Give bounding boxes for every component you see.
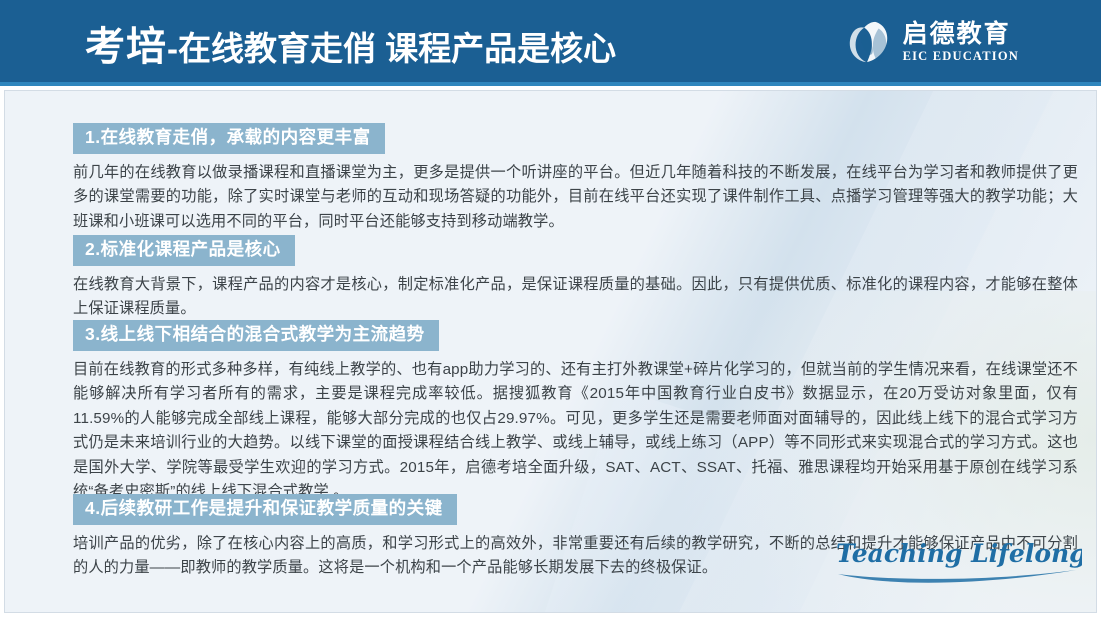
brand-name-en: EIC EDUCATION — [903, 50, 1019, 63]
section-3-body: 目前在线教育的形式多种多样，有纯线上教学的、也有app助力学习的、还有主打外教课… — [73, 358, 1078, 505]
section-2-heading: 2.标准化课程产品是核心 — [73, 235, 295, 266]
slide-canvas: 考培-在线教育走俏 课程产品是核心 启德教育 EIC EDUCATION 1.在… — [0, 0, 1101, 617]
eic-swirl-logo-mark — [845, 18, 893, 66]
page-title: 考培-在线教育走俏 课程产品是核心 — [85, 14, 616, 72]
section-3: 3.线上线下相结合的混合式教学为主流趋势 目前在线教育的形式多种多样，有纯线上教… — [73, 320, 1078, 505]
header-accent-line — [0, 82, 1101, 86]
section-1: 1.在线教育走俏，承载的内容更丰富 前几年的在线教育以做录播课程和直播课堂为主，… — [73, 123, 1078, 234]
content-area: 1.在线教育走俏，承载的内容更丰富 前几年的在线教育以做录播课程和直播课堂为主，… — [4, 90, 1097, 613]
slide-header: 考培-在线教育走俏 课程产品是核心 启德教育 EIC EDUCATION — [0, 0, 1101, 82]
page-title-main: 考培 — [85, 25, 167, 69]
section-4: 4.后续教研工作是提升和保证教学质量的关键 培训产品的优劣，除了在核心内容上的高… — [73, 494, 1078, 581]
brand-name-cn: 启德教育 — [903, 21, 1019, 46]
brand-logo-text: 启德教育 EIC EDUCATION — [903, 21, 1019, 63]
section-1-heading: 1.在线教育走俏，承载的内容更丰富 — [73, 123, 385, 154]
section-2: 2.标准化课程产品是核心 在线教育大背景下，课程产品的内容才是核心，制定标准化产… — [73, 235, 1078, 322]
section-1-body: 前几年的在线教育以做录播课程和直播课堂为主，更多是提供一个听讲座的平台。但近几年… — [73, 161, 1078, 235]
section-2-body: 在线教育大背景下，课程产品的内容才是核心，制定标准化产品，是保证课程质量的基础。… — [73, 273, 1078, 322]
sections-list: 1.在线教育走俏，承载的内容更丰富 前几年的在线教育以做录播课程和直播课堂为主，… — [5, 91, 1096, 612]
brand-logo: 启德教育 EIC EDUCATION — [845, 16, 1019, 68]
page-title-sub: -在线教育走俏 课程产品是核心 — [167, 30, 616, 67]
section-3-heading: 3.线上线下相结合的混合式教学为主流趋势 — [73, 320, 439, 351]
section-4-heading: 4.后续教研工作是提升和保证教学质量的关键 — [73, 494, 457, 525]
section-4-body: 培训产品的优劣，除了在核心内容上的高质，和学习形式上的高效外，非常重要还有后续的… — [73, 532, 1078, 581]
